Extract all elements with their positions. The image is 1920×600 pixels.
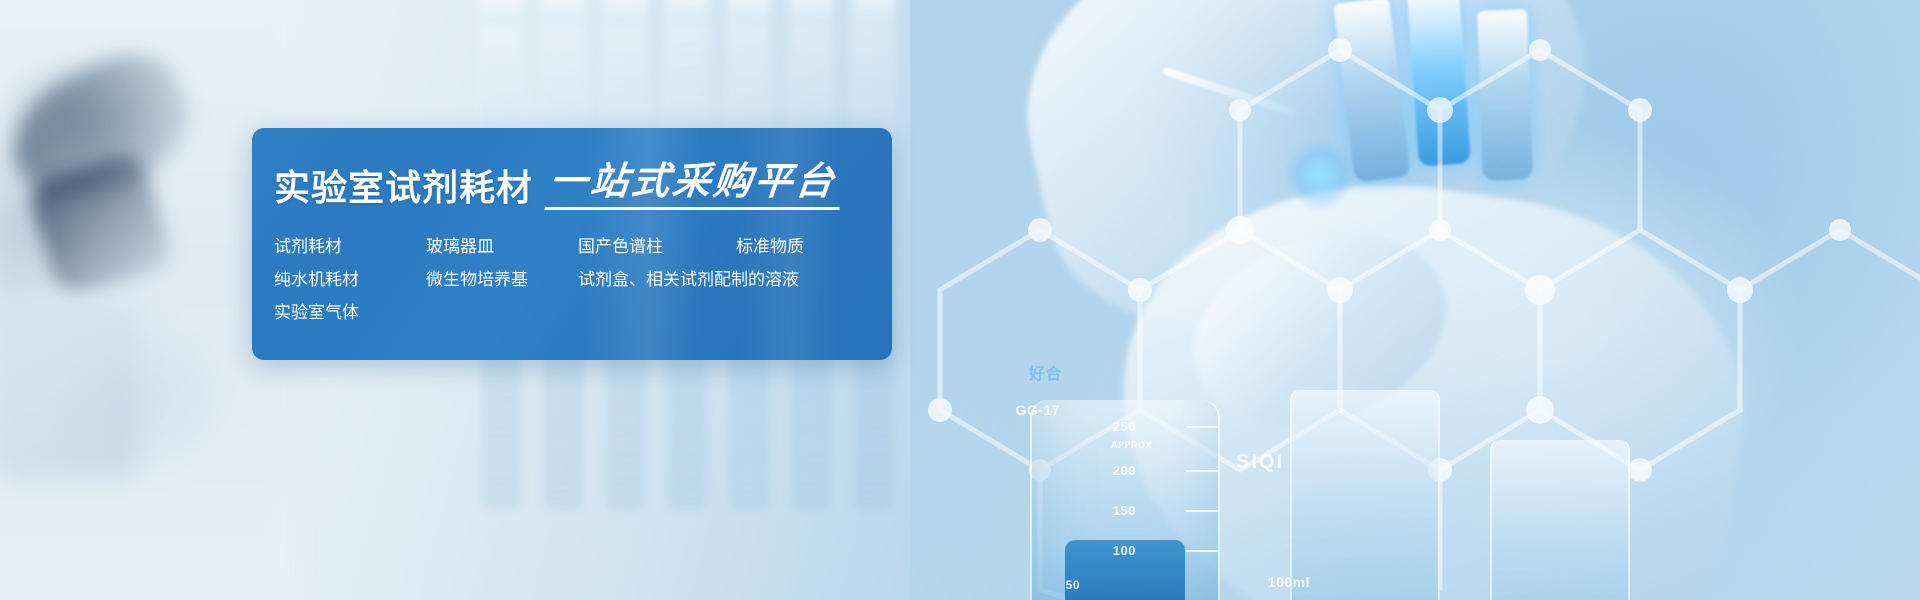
pipette-wand <box>1162 67 1298 118</box>
test-tube-cap <box>791 0 833 24</box>
flask-code-label: GG-17 <box>1015 402 1060 418</box>
graduation-250: 250 <box>1113 419 1136 434</box>
headline-script-text: 一站式采购平台 <box>544 161 844 210</box>
flask-capacity-label: 100ml <box>1268 574 1310 590</box>
graduated-cylinder-secondary <box>1490 440 1630 600</box>
graduated-cylinder <box>1290 390 1440 600</box>
promo-card: 实验室试剂耗材 一站式采购平台 试剂耗材 玻璃器皿 国产色谱柱 标准物质 纯水机… <box>252 128 892 360</box>
headline: 实验室试剂耗材 一站式采购平台 <box>274 156 892 210</box>
category-item-glassware[interactable]: 玻璃器皿 <box>426 230 578 263</box>
microscope-blur-shape-b <box>24 149 175 300</box>
sample-vial <box>1477 9 1533 181</box>
category-item-domestic-chromatography-column[interactable]: 国产色谱柱 <box>578 230 736 263</box>
category-item-water-purifier-consumables[interactable]: 纯水机耗材 <box>274 263 426 296</box>
graduation-tick <box>1186 510 1220 512</box>
category-row: 试剂耗材 玻璃器皿 国产色谱柱 标准物质 <box>274 230 892 263</box>
test-tube-cap <box>667 0 709 24</box>
category-item-reference-material[interactable]: 标准物质 <box>736 230 804 263</box>
graduation-tick <box>1186 550 1220 552</box>
test-tube-cap <box>605 0 647 24</box>
headline-main-text: 实验室试剂耗材 <box>274 166 533 210</box>
category-item-laboratory-gas[interactable]: 实验室气体 <box>274 296 426 329</box>
test-tube-cap <box>543 0 585 24</box>
test-tube-cap <box>853 0 895 24</box>
category-row: 实验室气体 <box>274 296 892 329</box>
graduation-200: 200 <box>1113 463 1136 478</box>
graduation-tick <box>1186 470 1220 472</box>
sample-vial-glowing <box>1407 0 1471 167</box>
category-row: 纯水机耗材 微生物培养基 试剂盒、相关试剂配制的溶液 <box>274 263 892 296</box>
category-list: 试剂耗材 玻璃器皿 国产色谱柱 标准物质 纯水机耗材 微生物培养基 试剂盒、相关… <box>274 230 892 329</box>
microscope-blur-shape-a <box>0 35 208 225</box>
cylinder-brand-label: SIQI <box>1236 451 1284 474</box>
graduation-approx: APPROX <box>1111 440 1152 450</box>
test-tube-cap <box>481 0 523 24</box>
category-item-reagent-consumables[interactable]: 试剂耗材 <box>274 230 426 263</box>
vial-glow <box>1285 140 1355 210</box>
category-item-microbial-culture-medium[interactable]: 微生物培养基 <box>426 263 578 296</box>
graduation-50: 50 <box>1066 578 1080 592</box>
flask-brand-label: 好合 <box>1029 360 1062 384</box>
glove-shape-upper <box>995 0 1626 364</box>
graduation-150: 150 <box>1113 503 1136 518</box>
sample-vial <box>1333 0 1411 183</box>
microscope-blur-shape-c <box>0 300 140 480</box>
category-item-reagent-kits-and-solutions[interactable]: 试剂盒、相关试剂配制的溶液 <box>578 263 799 296</box>
graduation-tick <box>1186 426 1220 428</box>
lab-reagent-banner: 250 APPROX 200 150 100 50 好合 GG-17 100ml… <box>0 0 1920 600</box>
graduation-100: 100 <box>1113 543 1136 558</box>
test-tube-cap <box>729 0 771 24</box>
